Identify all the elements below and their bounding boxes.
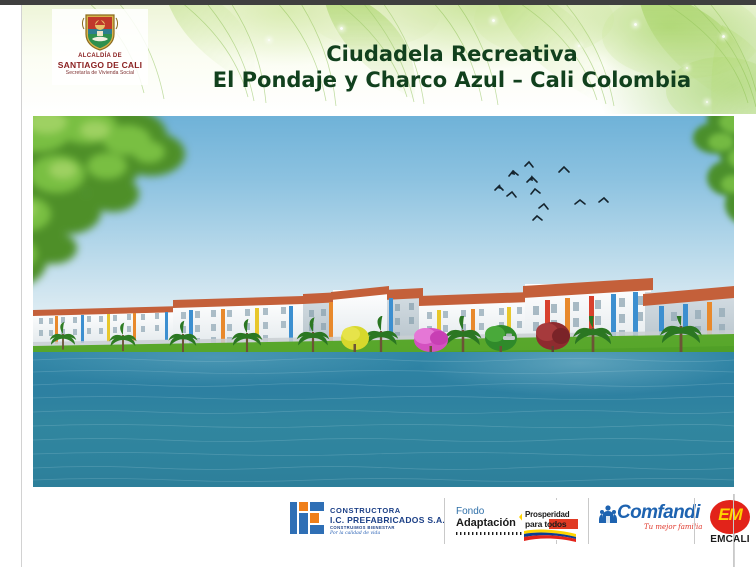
title-line-2: El Pondaje y Charco Azul – Cali Colombia <box>152 67 752 94</box>
fondo-line-2: Adaptación <box>456 517 516 530</box>
presentation-slide: ALCALDÍA DE SANTIAGO DE CALI Secretaría … <box>0 0 756 567</box>
alcaldia-line-3: Secretaría de Vivienda Social <box>52 70 148 77</box>
logo-divider-5 <box>733 494 734 567</box>
comfandi-family-icon <box>598 504 618 524</box>
comfandi-brand: Comfandi <box>617 502 700 524</box>
ic-line-1: CONSTRUCTORA <box>330 506 445 515</box>
logo-divider-1 <box>444 498 445 544</box>
sponsor-logo-bar: CONSTRUCTORA I.C. PREFABRICADOS S.A. CON… <box>22 494 734 567</box>
prosperidad-line-2: para todos <box>525 519 566 529</box>
emcali-monogram: EM <box>710 504 750 526</box>
prosperidad-line-1: Prosperidad <box>525 510 569 519</box>
prosperidad-plate: Prosperidad para todos <box>522 500 580 540</box>
alcaldia-logo: ALCALDÍA DE SANTIAGO DE CALI Secretaría … <box>52 9 148 85</box>
ic-line-4: Por la calidad de vida <box>330 531 445 537</box>
santiago-de-cali-coat-of-arms-icon <box>79 12 121 52</box>
emcali-brand: EMCALI <box>704 534 756 546</box>
ic-prefabricados-mark-icon <box>290 502 324 534</box>
logo-constructora-ic-prefabricados: CONSTRUCTORA I.C. PREFABRICADOS S.A. CON… <box>290 494 440 546</box>
alcaldia-line-2: SANTIAGO DE CALI <box>52 60 148 70</box>
slide-title: Ciudadela Recreativa El Pondaje y Charco… <box>152 41 752 94</box>
water-ripple-texture <box>33 352 734 487</box>
project-rendering-image <box>33 116 734 487</box>
colombia-flag-swoosh-icon <box>524 529 576 543</box>
alcaldia-line-1: ALCALDÍA DE <box>52 53 148 60</box>
logo-emcali: EM EMCALI <box>704 494 756 550</box>
logo-divider-4 <box>694 498 695 544</box>
logo-comfandi: Comfandi Tu mejor familia <box>598 494 716 544</box>
title-line-1: Ciudadela Recreativa <box>152 41 752 67</box>
logo-prosperidad-para-todos: Prosperidad para todos <box>522 494 582 544</box>
tree-canopy-right <box>645 116 734 238</box>
logo-divider-3 <box>588 498 589 544</box>
ic-prefabricados-text: CONSTRUCTORA I.C. PREFABRICADOS S.A. CON… <box>330 506 445 537</box>
birds-flock-icon <box>453 138 613 228</box>
header-banner: ALCALDÍA DE SANTIAGO DE CALI Secretaría … <box>22 5 756 114</box>
ic-line-2: I.C. PREFABRICADOS S.A. <box>330 515 445 525</box>
